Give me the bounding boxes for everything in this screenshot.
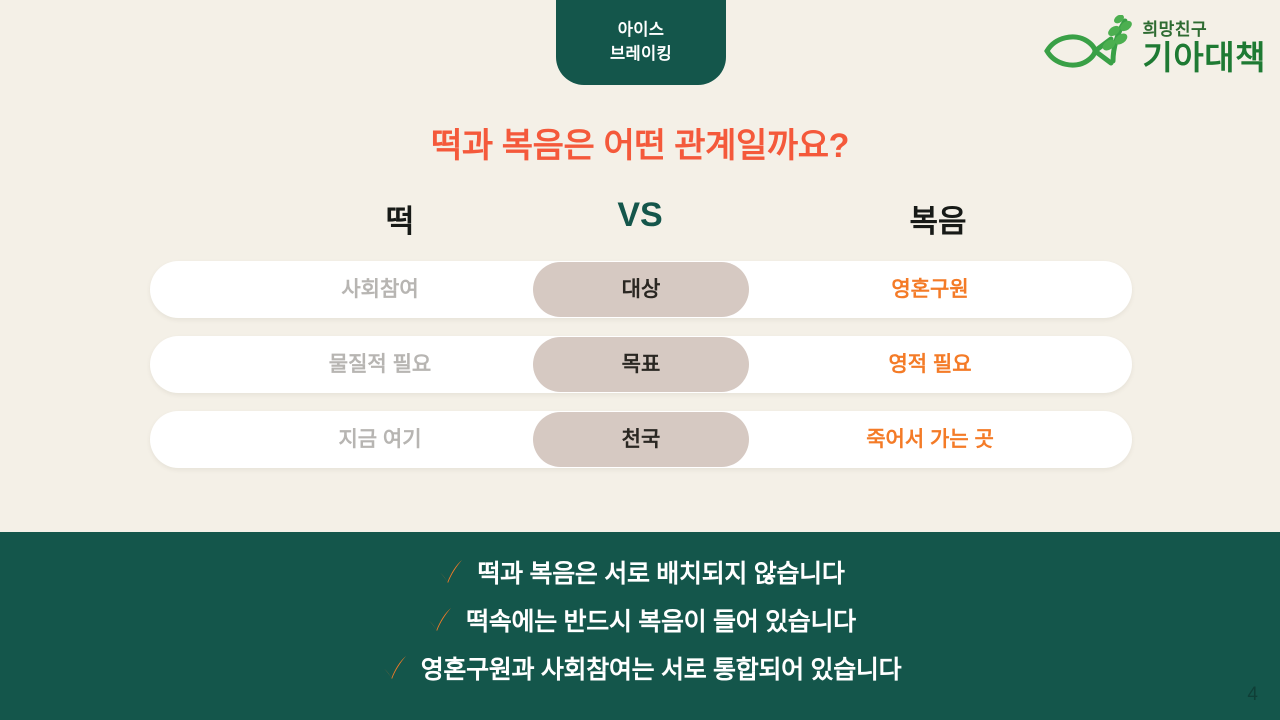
row-right-value: 죽어서 가는 곳 <box>790 411 1070 468</box>
section-tab-line1: 아이스 <box>618 20 664 41</box>
section-tab: 아이스 브레이킹 <box>556 0 726 85</box>
row-category-label: 대상 <box>533 262 749 317</box>
list-item: 영혼구원과 사회참여는 서로 통합되어 있습니다 <box>379 650 902 686</box>
table-row: 사회참여 대상 영혼구원 <box>150 261 1132 318</box>
list-item-label: 영혼구원과 사회참여는 서로 통합되어 있습니다 <box>421 650 902 686</box>
row-left-value: 사회참여 <box>260 261 500 318</box>
fish-wheat-logo-icon <box>1041 15 1137 81</box>
list-item: 떡과 복음은 서로 배치되지 않습니다 <box>435 554 844 590</box>
comparison-table: 사회참여 대상 영혼구원 물질적 필요 목표 영적 필요 지금 여기 천국 죽어… <box>150 261 1132 486</box>
column-header-left: 떡 <box>300 196 500 241</box>
row-category-label: 목표 <box>533 337 749 392</box>
slide-title: 떡과 복음은 어떤 관계일까요? <box>0 118 1280 167</box>
row-category-label: 천국 <box>533 412 749 467</box>
logo-sub-text: 희망친구 <box>1143 21 1208 38</box>
page-number: 4 <box>1247 684 1258 706</box>
conclusion-list: 떡과 복음은 서로 배치되지 않습니다 떡속에는 반드시 복음이 들어 있습니다… <box>0 554 1280 686</box>
row-category-pill: 대상 <box>533 262 749 317</box>
checkmark-icon <box>424 605 454 635</box>
comparison-column-headers: 떡 VS 복음 <box>150 196 1132 248</box>
row-left-value: 물질적 필요 <box>260 336 500 393</box>
table-row: 지금 여기 천국 죽어서 가는 곳 <box>150 411 1132 468</box>
column-header-versus: VS <box>540 196 740 235</box>
column-header-right: 복음 <box>838 196 1038 241</box>
checkmark-icon <box>435 557 465 587</box>
row-category-pill: 천국 <box>533 412 749 467</box>
row-category-pill: 목표 <box>533 337 749 392</box>
list-item: 떡속에는 반드시 복음이 들어 있습니다 <box>424 602 856 638</box>
slide: 아이스 브레이킹 희망친구 기아대책 떡과 복음은 어떤 관계일까요? 떡 VS… <box>0 0 1280 720</box>
list-item-label: 떡과 복음은 서로 배치되지 않습니다 <box>477 554 844 590</box>
logo-main-text: 기아대책 <box>1143 41 1266 74</box>
list-item-label: 떡속에는 반드시 복음이 들어 있습니다 <box>466 602 856 638</box>
row-left-value: 지금 여기 <box>260 411 500 468</box>
organization-logo: 희망친구 기아대책 <box>1040 12 1266 84</box>
logo-wordmark: 희망친구 기아대책 <box>1143 21 1266 76</box>
row-right-value: 영적 필요 <box>790 336 1070 393</box>
checkmark-icon <box>379 653 409 683</box>
table-row: 물질적 필요 목표 영적 필요 <box>150 336 1132 393</box>
conclusion-band: 떡과 복음은 서로 배치되지 않습니다 떡속에는 반드시 복음이 들어 있습니다… <box>0 532 1280 720</box>
section-tab-line2: 브레이킹 <box>610 44 672 65</box>
row-right-value: 영혼구원 <box>790 261 1070 318</box>
